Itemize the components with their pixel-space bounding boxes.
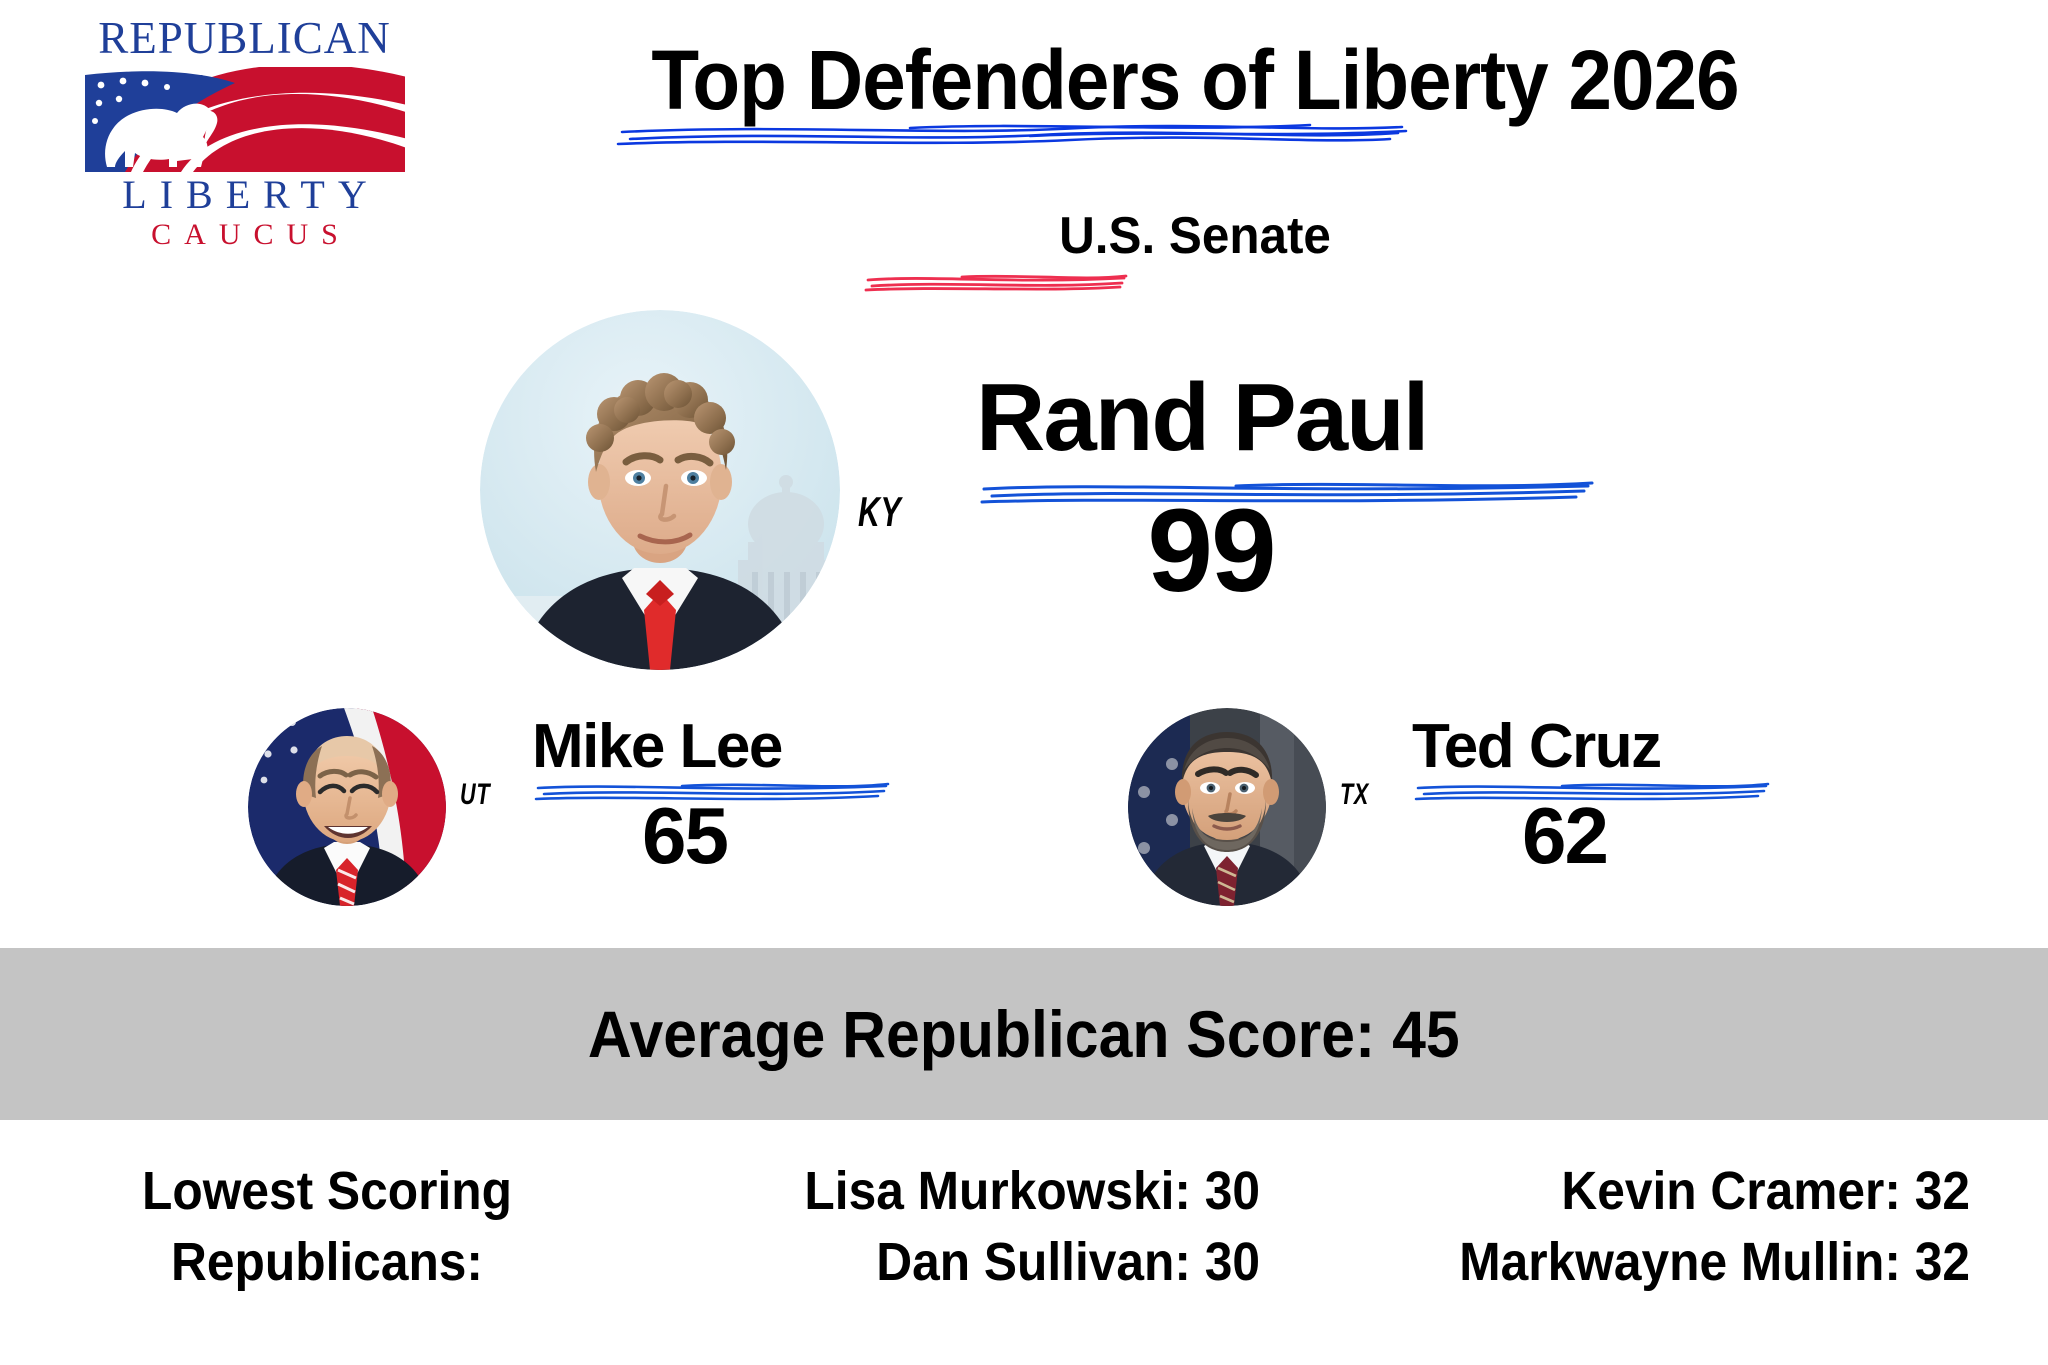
- page-subtitle: U.S. Senate: [455, 210, 1935, 262]
- lowest-scoring-label: Lowest Scoring Republicans:: [111, 1156, 543, 1299]
- runner-up-row: UT Mike Lee 65: [0, 700, 2048, 930]
- list-item: Markwayne Mullin: 32: [1354, 1227, 1970, 1298]
- average-score-band: Average Republican Score: 45: [0, 948, 2048, 1120]
- subtitle-underline-scribble: [862, 272, 1130, 294]
- featured-senator-name: Rand Paul: [976, 370, 1446, 466]
- senator-text-ted-cruz: TX Ted Cruz 62: [1340, 700, 1717, 876]
- featured-state-label: KY: [858, 488, 901, 536]
- featured-senator-score: 99: [976, 492, 1446, 610]
- lowest-scoring-section: Lowest Scoring Republicans: Lisa Murkows…: [0, 1150, 2048, 1340]
- senator-score: 65: [532, 796, 837, 876]
- lowest-scoring-column-1: Lisa Murkowski: 30 Dan Sullivan: 30: [660, 1156, 1260, 1299]
- page-title-text: Top Defenders of Liberty 2026: [507, 38, 1883, 122]
- featured-senator-text: KY Rand Paul 99: [858, 370, 1446, 610]
- rlc-logo: REPUBLICAN: [72, 16, 417, 266]
- senator-name: Mike Lee: [532, 716, 837, 778]
- senator-card-ted-cruz: TX Ted Cruz 62: [1128, 700, 1717, 906]
- logo-flag-elephant-graphic: [85, 67, 405, 172]
- senator-state-label: TX: [1340, 778, 1369, 812]
- senator-card-mike-lee: UT Mike Lee 65: [248, 700, 837, 906]
- avatar-ted-cruz: [1128, 708, 1326, 906]
- senator-text-mike-lee: UT Mike Lee 65: [460, 700, 837, 876]
- senator-score: 62: [1412, 796, 1717, 876]
- featured-senator: KY Rand Paul 99: [480, 310, 1446, 670]
- lowest-scoring-label-line2: Republicans:: [171, 1232, 483, 1292]
- list-item: Lisa Murkowski: 30: [708, 1156, 1260, 1227]
- logo-word-caucus: CAUCUS: [72, 218, 417, 251]
- list-item: Dan Sullivan: 30: [708, 1227, 1260, 1298]
- senator-state-label: UT: [460, 778, 490, 812]
- page-title: Top Defenders of Liberty 2026: [455, 38, 1935, 122]
- senator-name: Ted Cruz: [1412, 716, 1717, 778]
- list-item: Kevin Cramer: 32: [1354, 1156, 1970, 1227]
- logo-word-republican: REPUBLICAN: [72, 16, 417, 61]
- lowest-scoring-column-2: Kevin Cramer: 32 Markwayne Mullin: 32: [1300, 1156, 1970, 1299]
- avatar-rand-paul: [480, 310, 840, 670]
- logo-word-liberty: LIBERTY: [72, 174, 417, 216]
- average-score-text: Average Republican Score: 45: [588, 1001, 1460, 1067]
- page-subtitle-text: U.S. Senate: [492, 210, 1898, 262]
- lowest-scoring-label-line1: Lowest Scoring: [142, 1161, 512, 1221]
- avatar-mike-lee: [248, 708, 446, 906]
